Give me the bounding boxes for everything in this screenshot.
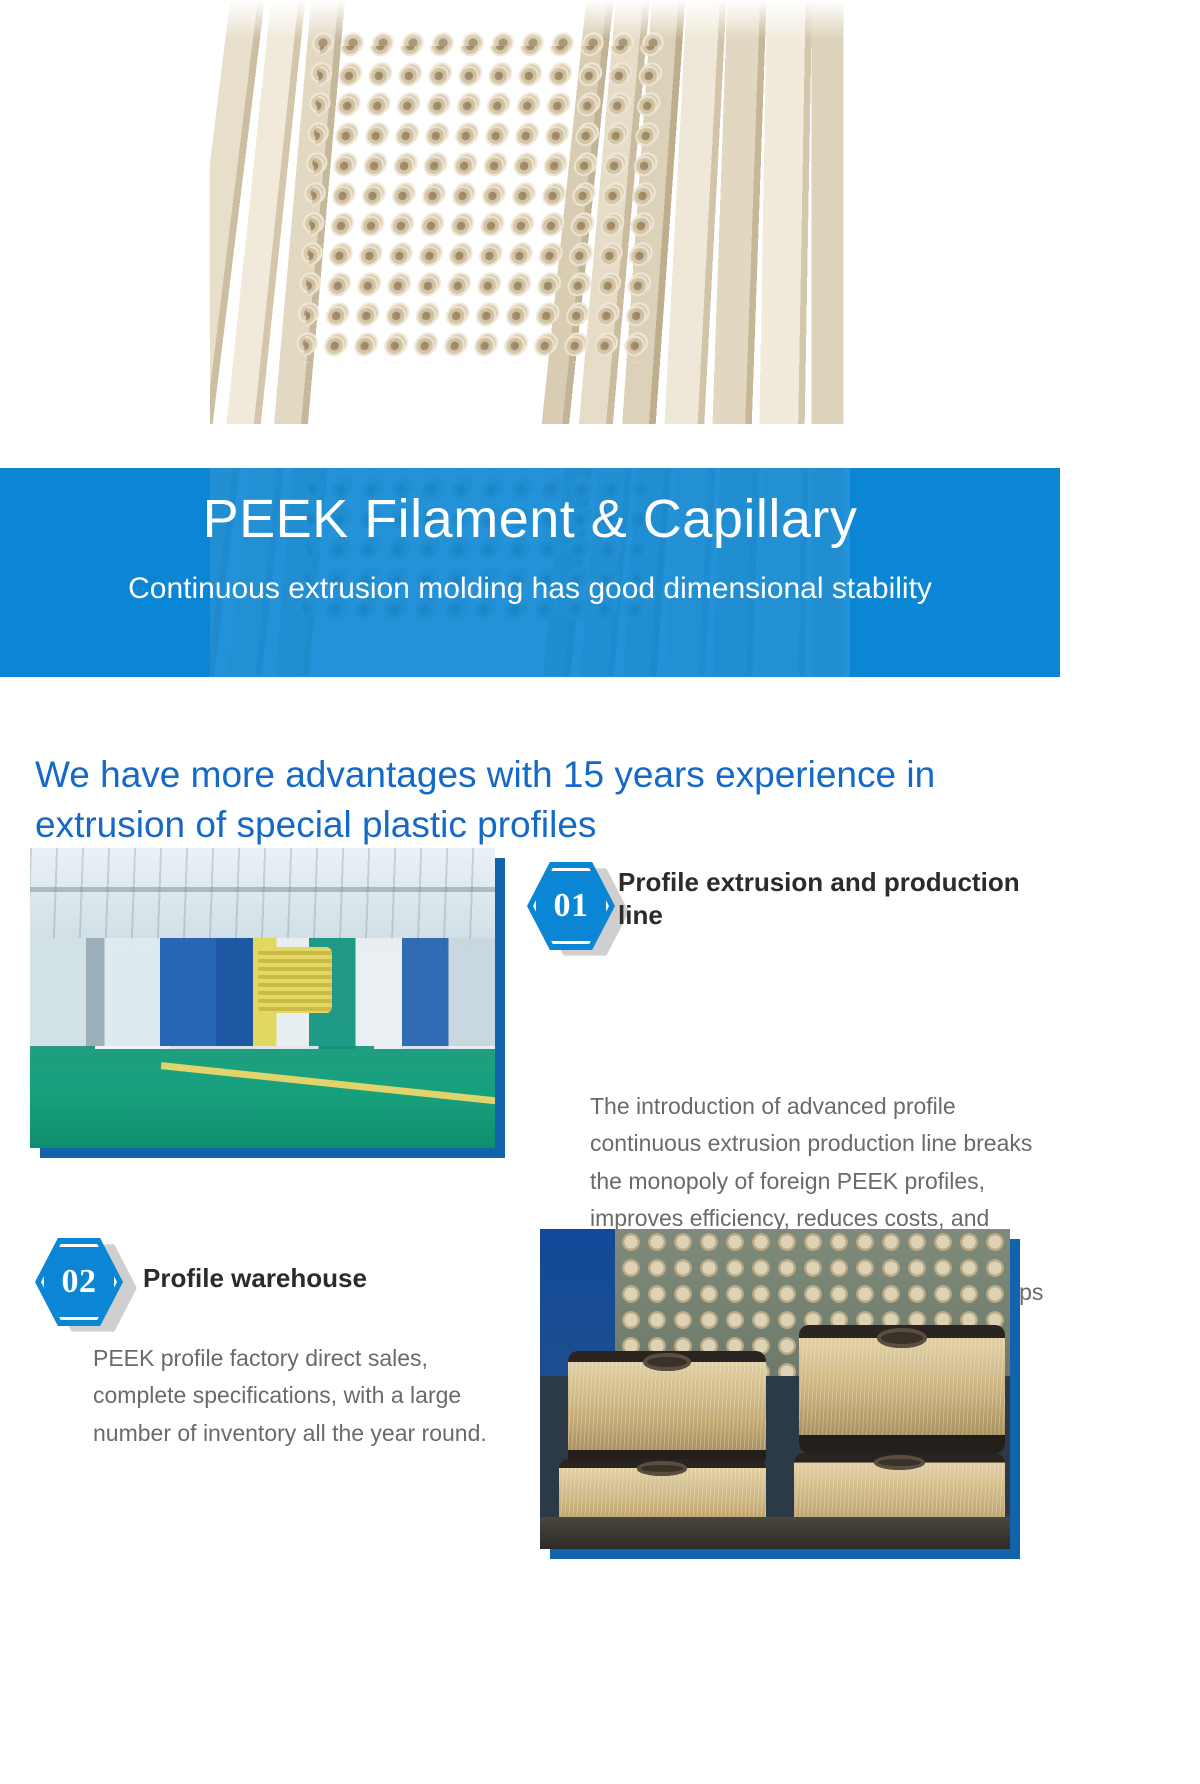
peek-tube-bundle-photo bbox=[210, 0, 850, 424]
feature-01-title: Profile extrusion and production line bbox=[618, 866, 1048, 931]
spool-scene-graphic bbox=[540, 1229, 1010, 1549]
feature-01-photo-inner bbox=[30, 848, 495, 1148]
banner-subtitle: Continuous extrusion molding has good di… bbox=[0, 571, 1060, 607]
feature-01-photo bbox=[30, 848, 495, 1148]
filament-spool-graphic bbox=[799, 1325, 1006, 1453]
feature-01-number-badge: 01 bbox=[527, 862, 619, 954]
feature-02-title: Profile warehouse bbox=[143, 1262, 523, 1295]
hero-right-fade bbox=[970, 0, 1060, 468]
hero-left-fade bbox=[0, 0, 90, 468]
filament-spool-graphic bbox=[568, 1351, 765, 1466]
spool-floor-graphic bbox=[540, 1517, 1010, 1549]
banner-title: PEEK Filament & Capillary bbox=[0, 490, 1060, 549]
feature-02-photo bbox=[540, 1229, 1010, 1549]
title-banner: PEEK Filament & Capillary Continuous ext… bbox=[0, 468, 1060, 677]
feature-02-number-badge: 02 bbox=[35, 1238, 127, 1330]
feature-02-photo-inner bbox=[540, 1229, 1010, 1549]
section-headline: We have more advantages with 15 years ex… bbox=[35, 750, 1045, 850]
tube-ends-secondary-graphic bbox=[304, 46, 666, 364]
hero-top-fade bbox=[0, 0, 1060, 40]
product-detail-page: PEEK Filament & Capillary Continuous ext… bbox=[0, 0, 1200, 1784]
feature-02-number: 02 bbox=[35, 1238, 123, 1326]
factory-scene-graphic bbox=[30, 848, 495, 1148]
factory-spools-graphic bbox=[258, 947, 332, 1013]
hero-banner-image bbox=[0, 0, 1060, 468]
factory-floor-graphic bbox=[30, 1049, 495, 1148]
factory-ceiling-graphic bbox=[30, 848, 495, 950]
feature-02-body: PEEK profile factory direct sales, compl… bbox=[93, 1340, 493, 1452]
feature-01-number: 01 bbox=[527, 862, 615, 950]
